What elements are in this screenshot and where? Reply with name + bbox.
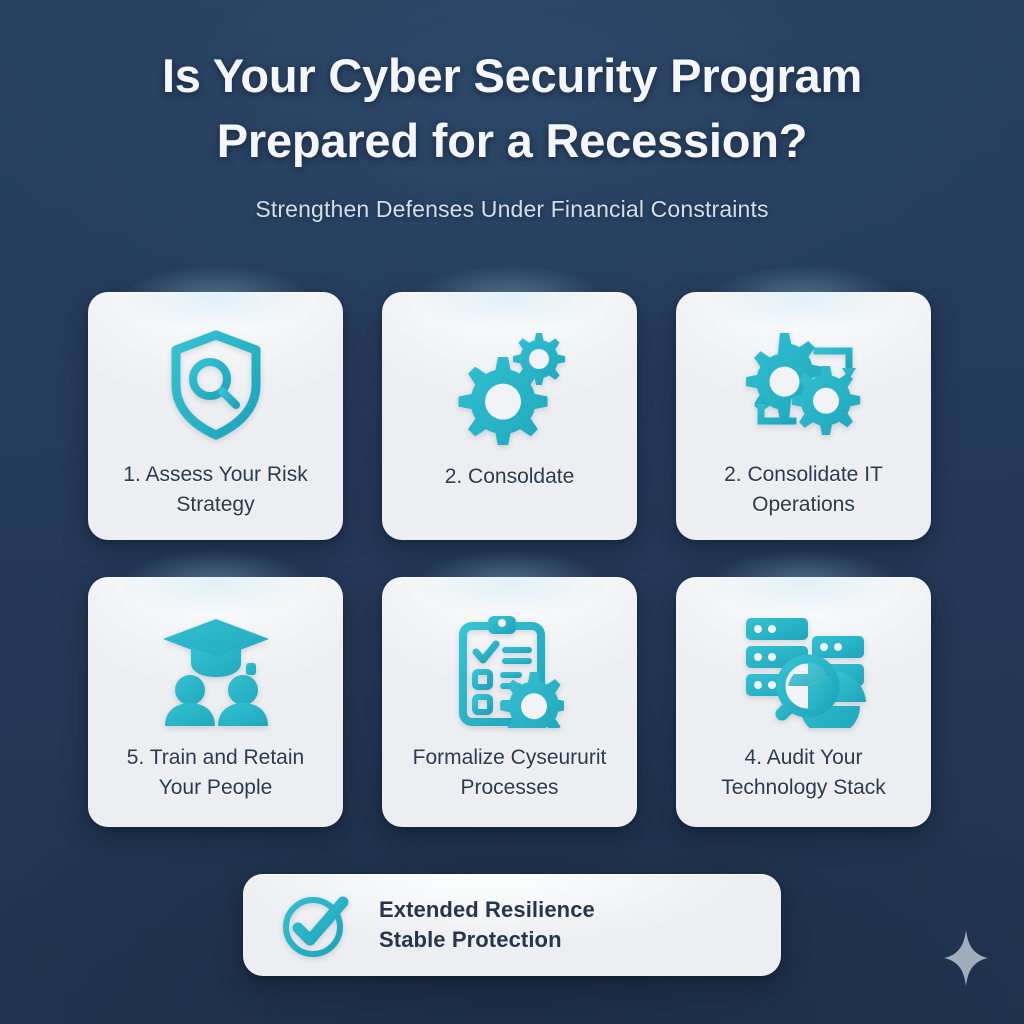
gears-sync-arrows-icon [743,326,865,444]
step-card-label: 4. Audit Your Technology Stack [696,743,911,803]
step-card-label: 1. Assess Your Risk Strategy [108,460,323,520]
infographic-canvas: Is Your Cyber Security Program Prepared … [0,0,1024,1024]
step-card-label: 2. Consoldate [445,462,575,492]
circle-check-icon [281,891,349,959]
outcome-line-1: Extended Resilience [379,895,595,925]
two-gears-icon [452,326,568,446]
page-subtitle: Strengthen Defenses Under Financial Cons… [0,196,1024,223]
step-card-formalize-processes[interactable]: Formalize Cyseururit Processes [382,577,637,827]
outcome-banner[interactable]: Extended Resilience Stable Protection [243,874,781,976]
step-card-audit-tech-stack[interactable]: 4. Audit Your Technology Stack [676,577,931,827]
page-title: Is Your Cyber Security Program Prepared … [0,44,1024,174]
header-block: Is Your Cyber Security Program Prepared … [0,44,1024,223]
outcome-line-2: Stable Protection [379,925,595,955]
shield-magnifier-icon [164,326,268,444]
step-card-assess-risk[interactable]: 1. Assess Your Risk Strategy [88,292,343,540]
step-card-label: 5. Train and Retain Your People [108,743,323,803]
step-card-label: Formalize Cyseururit Processes [402,743,617,803]
step-card-label: 2. Consolidate IT Operations [696,460,911,520]
step-card-consolidate-it[interactable]: 2. Consolidate IT Operations [676,292,931,540]
clipboard-checklist-gear-icon [456,611,564,731]
four-point-star-icon [944,930,988,986]
step-card-train-retain[interactable]: 5. Train and Retain Your People [88,577,343,827]
steps-grid: 1. Assess Your Risk Strategy [88,292,932,827]
step-card-consolidate[interactable]: 2. Consoldate [382,292,637,540]
graduation-people-icon [157,611,275,731]
outcome-banner-text: Extended Resilience Stable Protection [379,895,595,955]
servers-magnifier-chart-icon [742,611,866,731]
